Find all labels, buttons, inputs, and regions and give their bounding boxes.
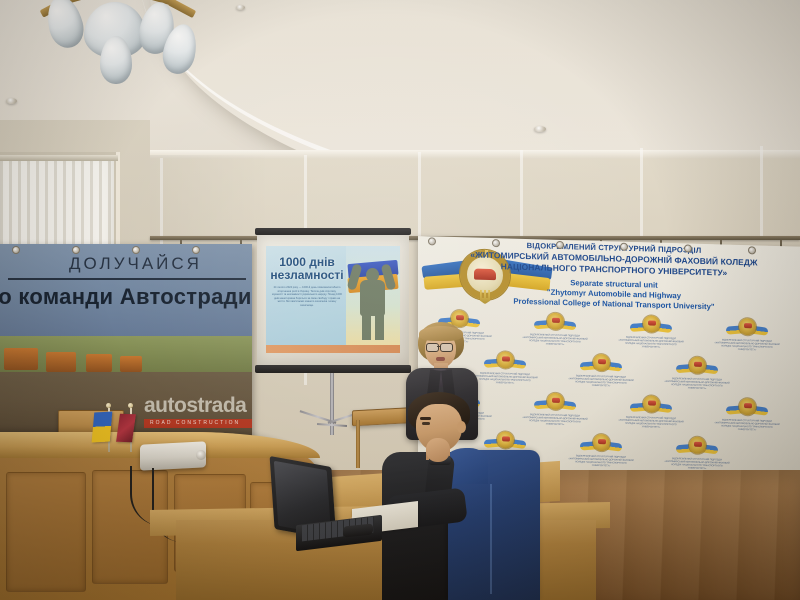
banner-grommet [72, 246, 80, 254]
slide-text-area: 1000 днів незламності 24 лютого 2024 рок… [266, 246, 346, 345]
tile-gear-emblem [630, 394, 672, 417]
construction-machine [46, 352, 76, 372]
autostrada-logo-text: autostrada [144, 394, 252, 418]
tile-gear-emblem [580, 353, 622, 376]
projection-screen: 1000 днів незламності 24 лютого 2024 рок… [255, 228, 411, 376]
soldier-leg-right [375, 312, 384, 340]
banner-grommet [132, 246, 140, 254]
tile-car-icon [648, 320, 656, 325]
blind-rail [0, 155, 118, 161]
tile-car-icon [456, 315, 464, 320]
tile-car-icon [694, 442, 702, 447]
tile-gear-emblem [726, 397, 768, 420]
screen-surface: 1000 днів незламності 24 лютого 2024 рок… [257, 235, 409, 365]
man-brow [420, 417, 431, 420]
projector-lens [196, 450, 206, 460]
seated-man-at-laptop [330, 392, 540, 600]
jacket-seam [490, 484, 492, 594]
soldier-torso [360, 280, 385, 316]
ceiling-chandelier [22, 0, 212, 85]
soldier-leg-left [362, 312, 371, 340]
wall-panel-seam [640, 148, 643, 240]
autostrada-logo: autostrada ROAD CONSTRUCTION [144, 394, 252, 428]
tile-caption: ВІДОКРЕМЛЕНИЙ СТРУКТУРНИЙ ПІДРОЗДІЛ «ЖИТ… [520, 334, 590, 348]
slide-title-line2: незламності [270, 269, 344, 282]
ukraine-desk-flag [92, 412, 113, 443]
banner-grommet [684, 244, 692, 252]
conference-hall-photo: ДОЛУЧАЙСЯ до команди Автостради! autostr… [0, 0, 800, 600]
tile-gear-emblem [534, 311, 576, 334]
ceiling-spotlight [6, 98, 17, 104]
tile-car-icon [552, 318, 560, 323]
banner-left-divider [8, 278, 246, 280]
slide-footer-bar [266, 345, 400, 353]
eyeglasses-lens-right [440, 343, 453, 352]
banner-grommet [428, 237, 436, 245]
banner-grommet [192, 246, 200, 254]
flag-finial [128, 403, 133, 408]
tile-car-icon [598, 359, 606, 364]
construction-machine [4, 348, 38, 370]
tile-car-icon [744, 403, 752, 408]
man-eye [422, 422, 430, 425]
tile-car-icon [694, 362, 702, 367]
banner-grommet [492, 239, 500, 247]
tile-caption: ВІДОКРЕМЛЕНИЙ СТРУКТУРНИЙ ПІДРОЗДІЛ «ЖИТ… [662, 378, 732, 392]
eyeglasses-lens-left [426, 343, 439, 352]
tile-caption: ВІДОКРЕМЛЕНИЙ СТРУКТУРНИЙ ПІДРОЗДІЛ «ЖИТ… [712, 339, 782, 353]
banner-grommet [556, 241, 564, 249]
tile-caption: ВІДОКРЕМЛЕНИЙ СТРУКТУРНИЙ ПІДРОЗДІЛ «ЖИТ… [712, 419, 782, 433]
tile-car-icon [744, 323, 752, 328]
tile-caption: ВІДОКРЕМЛЕНИЙ СТРУКТУРНИЙ ПІДРОЗДІЛ «ЖИТ… [566, 375, 636, 389]
autostrada-logo-tagline: ROAD CONSTRUCTION [144, 419, 252, 428]
banner-grommet [12, 246, 20, 254]
slide-title: 1000 днів незламності [270, 256, 344, 282]
man-hand-on-chin [426, 438, 450, 462]
eyeglasses-bridge [437, 346, 441, 347]
construction-machine [120, 356, 142, 372]
ceiling-spotlight [534, 126, 546, 132]
woman-mouth [436, 357, 445, 361]
banner-left-subtitle: до команди Автостради! [0, 284, 252, 310]
tile-gear-emblem [676, 435, 718, 458]
tile-caption: ВІДОКРЕМЛЕНИЙ СТРУКТУРНИЙ ПІДРОЗДІЛ «ЖИТ… [616, 417, 686, 431]
tile-gear-emblem [484, 350, 526, 373]
tile-car-icon [648, 400, 656, 405]
chandelier-bulb [42, 0, 88, 51]
tile-gear-emblem [580, 433, 622, 456]
banner-right-heading: ВІДОКРЕМЛЕНИЙ СТРУКТУРНИЙ ПІДРОЗДІЛ «ЖИТ… [418, 238, 800, 315]
tile-gear-emblem [726, 317, 768, 340]
tile-caption: ВІДОКРЕМЛЕНИЙ СТРУКТУРНИЙ ПІДРОЗДІЛ «ЖИТ… [566, 455, 636, 469]
tile-car-icon [598, 439, 606, 444]
slide-illustration [346, 246, 400, 345]
ceiling-spotlight [236, 5, 245, 10]
tile-gear-emblem [676, 355, 718, 378]
presentation-slide: 1000 днів незламності 24 лютого 2024 рок… [266, 246, 400, 345]
slide-body-text: 24 лютого 2024 року — 1000-й день повном… [272, 286, 342, 308]
construction-machine [86, 354, 112, 372]
wall-panel-seam [520, 150, 523, 240]
screen-top-bar [255, 228, 411, 235]
tile-gear-emblem [534, 391, 576, 414]
screen-bottom-bar [255, 365, 411, 373]
tile-car-icon [552, 398, 560, 403]
banner-left-title: ДОЛУЧАЙСЯ [28, 254, 243, 274]
banner-grommet [620, 243, 628, 251]
wall-panel-seam [760, 146, 763, 238]
tile-caption: ВІДОКРЕМЛЕНИЙ СТРУКТУРНИЙ ПІДРОЗДІЛ «ЖИТ… [616, 337, 686, 351]
flag-finial [106, 403, 111, 408]
tile-car-icon [502, 356, 510, 361]
man-ear [457, 421, 466, 433]
autostrada-logo-bar: ROAD CONSTRUCTION [144, 419, 252, 428]
podium-panel [6, 472, 86, 592]
woman-fringe [419, 326, 463, 341]
tile-gear-emblem [630, 314, 672, 337]
banner-grommet [748, 246, 756, 254]
